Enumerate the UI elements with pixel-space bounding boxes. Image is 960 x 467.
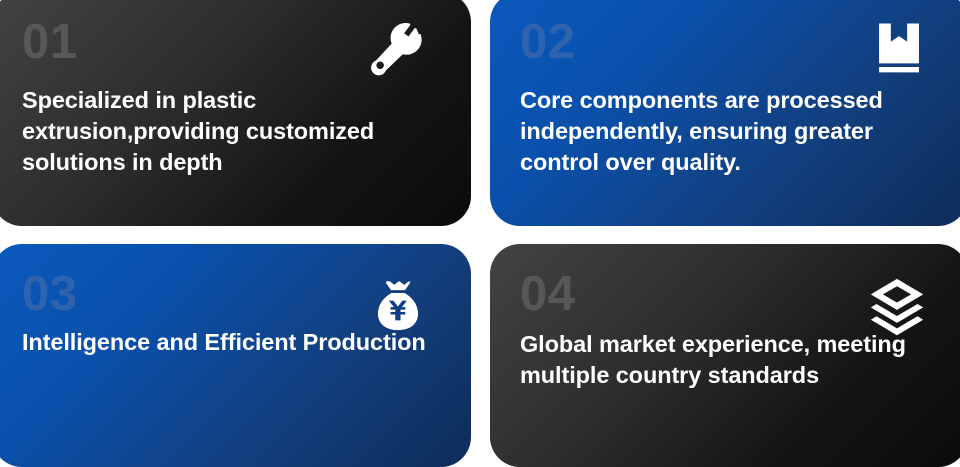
feature-card-grid: 01 Specialized in plastic extrusion,prov… [0,0,960,459]
feature-card-01[interactable]: 01 Specialized in plastic extrusion,prov… [0,0,471,226]
card-title: Intelligence and Efficient Production [22,327,437,358]
card-number: 04 [520,270,934,319]
card-title: Core components are processed independen… [520,85,934,178]
feature-card-02[interactable]: 02 Core components are processed indepen… [490,0,960,226]
card-number: 01 [22,18,437,67]
card-content: 01 Specialized in plastic extrusion,prov… [22,18,437,204]
card-number: 02 [520,18,934,67]
card-title: Specialized in plastic extrusion,providi… [22,85,437,178]
feature-card-04[interactable]: 04 Global market experience, meeting mul… [490,244,960,467]
card-number: 03 [22,270,437,319]
card-title: Global market experience, meeting multip… [520,329,934,391]
card-content: 03 Intelligence and Efficient Production [22,270,437,445]
card-content: 02 Core components are processed indepen… [520,18,934,204]
feature-card-03[interactable]: 03 Intelligence and Efficient Production [0,244,471,467]
card-content: 04 Global market experience, meeting mul… [520,270,934,445]
